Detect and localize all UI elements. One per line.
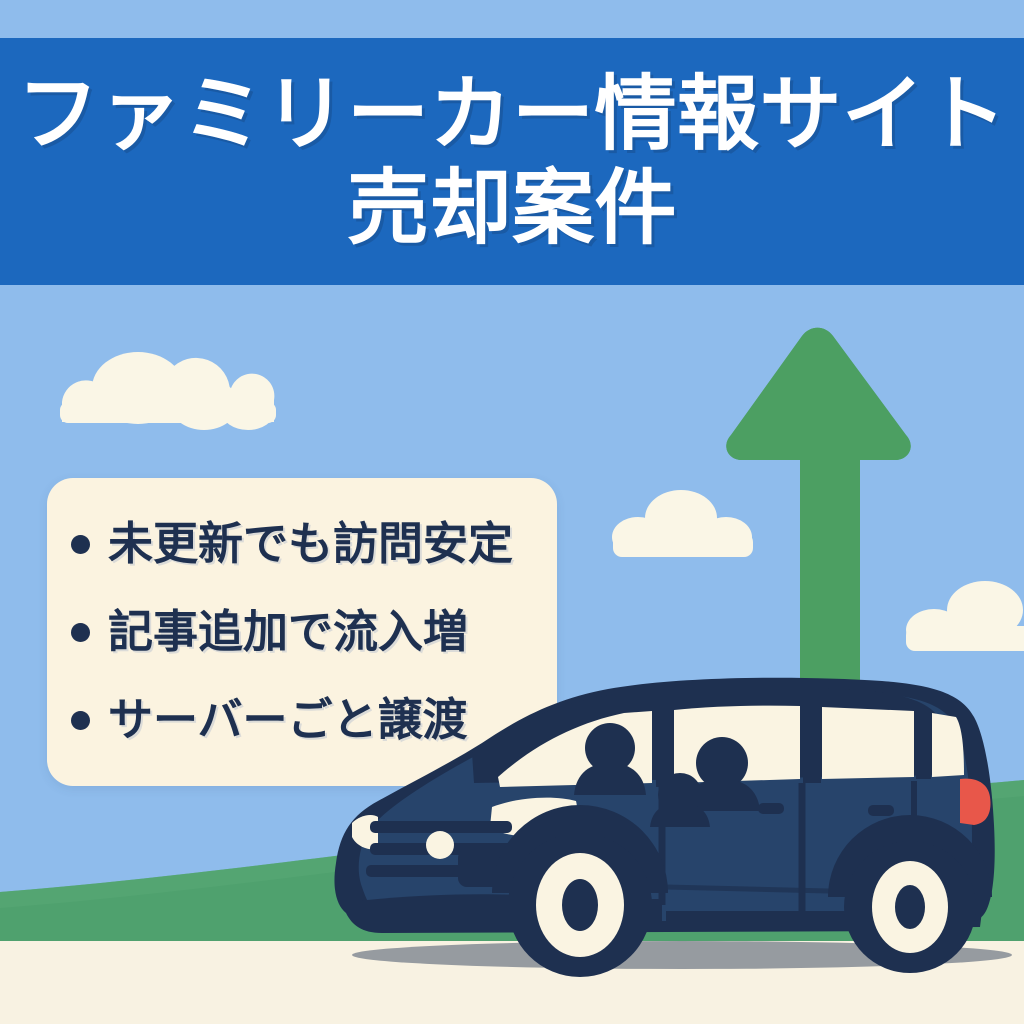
cloud-icon [608, 485, 758, 563]
bullet-label: 記事追加で流入増 [108, 607, 468, 657]
bullet-dot-icon [71, 535, 90, 554]
page-title-line-2: 売却案件 [347, 168, 677, 250]
header-banner: ファミリーカー情報サイト 売却案件 [0, 38, 1024, 285]
cloud-icon [52, 330, 284, 430]
cloud-icon [900, 578, 1024, 656]
bullet-dot-icon [71, 623, 90, 642]
list-item: 未更新でも訪問安定 [71, 500, 557, 588]
poster-canvas: 未更新でも訪問安定 記事追加で流入増 サーバーごと譲渡 [0, 0, 1024, 1024]
rear-wheel [844, 841, 976, 973]
bullet-label: 未更新でも訪問安定 [108, 519, 513, 569]
bullet-dot-icon [71, 711, 90, 730]
front-wheel [508, 833, 652, 977]
page-title-line-1: ファミリーカー情報サイト [17, 74, 1007, 156]
minivan-icon [322, 655, 1024, 990]
